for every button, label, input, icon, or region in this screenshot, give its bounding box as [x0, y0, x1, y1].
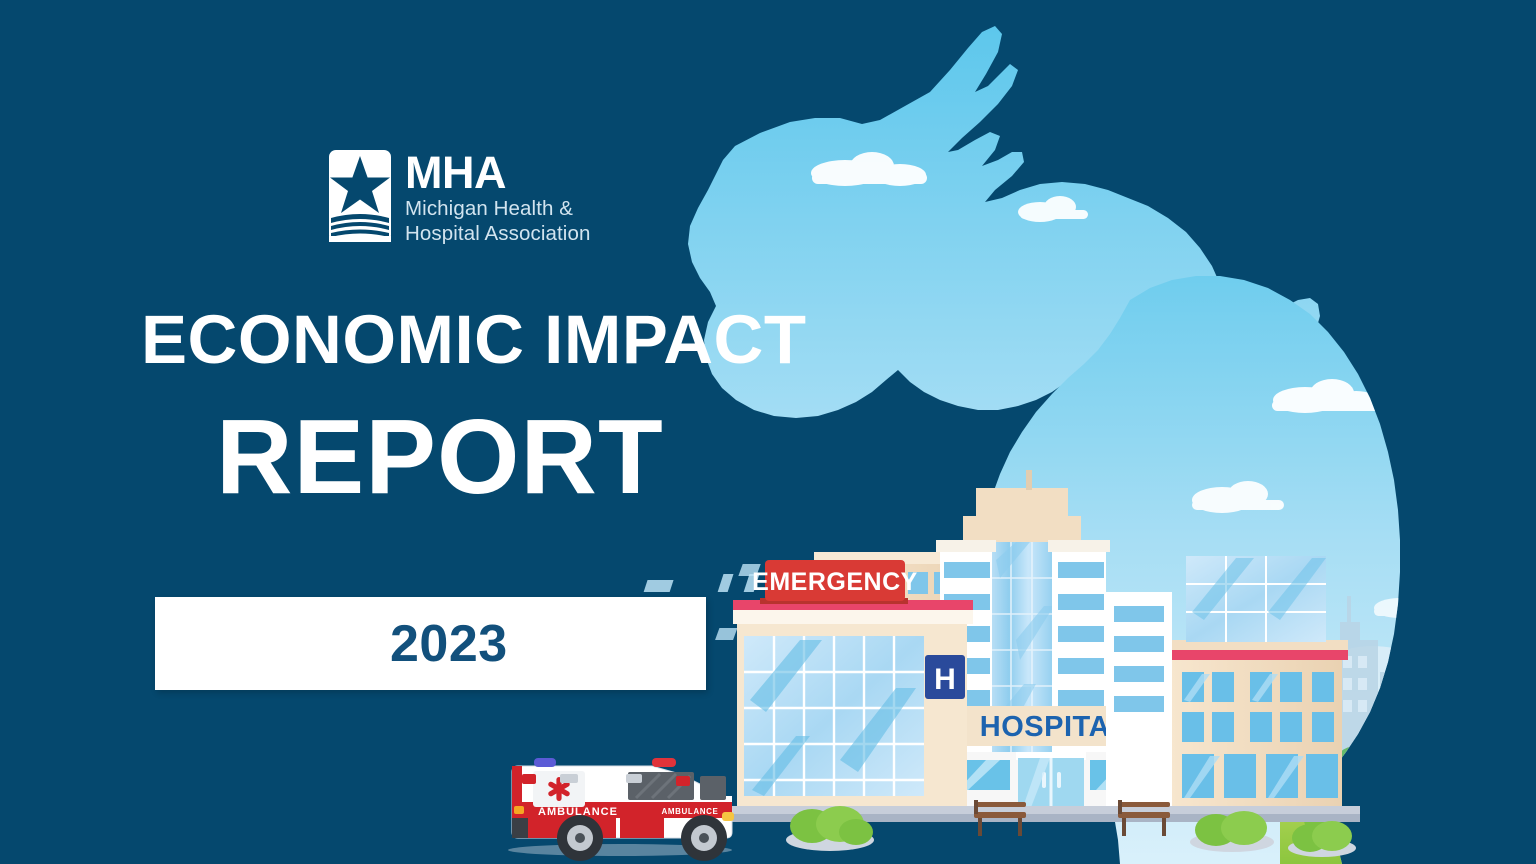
helipad-sign-text: H — [934, 663, 956, 696]
logo-title: MHA — [405, 152, 590, 193]
report-cover-slide: HOSPITAL — [0, 0, 1536, 864]
year-band: 2023 — [155, 597, 706, 690]
logo-subtitle-line1: Michigan Health & — [405, 197, 590, 221]
mha-logo: MHA Michigan Health & Hospital Associati… — [329, 150, 590, 246]
page-title-line2: REPORT — [216, 404, 664, 510]
ambulance-label-rear: AMBULANCE — [662, 807, 719, 816]
hospital-sign-text: HOSPITAL — [980, 711, 1128, 743]
ambulance-roof-light-red — [652, 758, 676, 767]
emergency-sign-text: EMERGENCY — [752, 568, 918, 596]
ambulance: AMBULANCE AMBULANCE — [508, 758, 734, 861]
report-year: 2023 — [390, 614, 508, 674]
ambulance-front-window — [700, 776, 726, 800]
ambulance-roof-light-blue — [534, 758, 556, 767]
page-title-line1: ECONOMIC IMPACT — [141, 305, 807, 374]
trees — [1334, 726, 1514, 826]
mha-star-flag-icon — [329, 150, 391, 242]
bench-left — [974, 800, 1026, 836]
logo-subtitle-line2: Hospital Association — [405, 222, 590, 246]
tower-cap — [963, 516, 1081, 542]
